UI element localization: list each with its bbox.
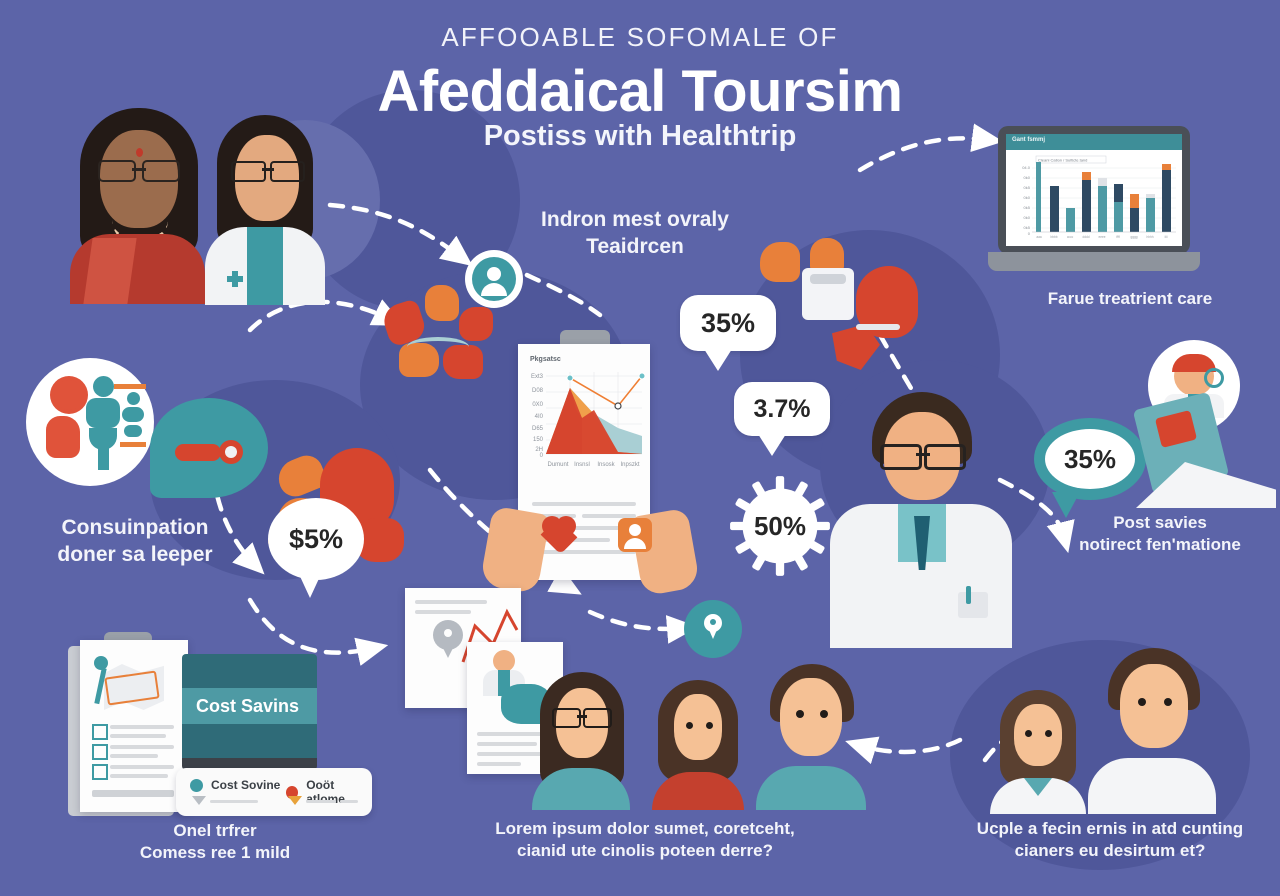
- elder-bindi: [136, 148, 143, 157]
- callout-50-value: 50%: [754, 511, 806, 542]
- callout-35-right[interactable]: 35%: [1034, 418, 1146, 500]
- glasses: [552, 708, 612, 724]
- checkbox-icon: [92, 764, 108, 780]
- first-aid-graphic: [1136, 400, 1276, 510]
- stethoscope-icon: [175, 438, 245, 466]
- center-note-line1: Indron mest ovraly: [470, 207, 800, 234]
- doctor-man-pocket: [958, 592, 988, 618]
- callout-35-right-value: 35%: [1064, 444, 1116, 475]
- svg-text:ffff: ffff: [1116, 235, 1119, 239]
- eye-right: [820, 710, 828, 718]
- eye-right: [706, 722, 713, 729]
- medical-research-chip[interactable]: [26, 358, 154, 486]
- person-man-teal: [756, 664, 866, 810]
- eye-left: [796, 710, 804, 718]
- legend-item: Cost Sovine: [190, 778, 280, 792]
- person-man-right: [1088, 648, 1216, 814]
- laptop-device[interactable]: Gant fsmmj Cleani Cation / Sulticte.tand…: [988, 126, 1200, 271]
- person-girl-right: [988, 690, 1088, 814]
- svg-text:4I0: 4I0: [535, 414, 544, 420]
- bottom-right-caption: Ucple a fecin ernis in atd cunting ciane…: [945, 818, 1275, 862]
- doctor-man-glasses: [880, 444, 966, 464]
- legend-caret-grey: [192, 796, 206, 805]
- laptop-screen: Gant fsmmj Cleani Cation / Sulticte.tand…: [1006, 134, 1182, 246]
- cost-panel-caption: Onel trfrer Comess ree 1 mild: [90, 820, 340, 864]
- legend-dot-savings: [190, 779, 203, 792]
- legend-underline: [340, 800, 358, 803]
- svg-text:0k0: 0k0: [1024, 195, 1031, 200]
- paper-rule: [532, 502, 636, 506]
- svg-text:D65: D65: [532, 426, 544, 432]
- doctor-man-pen: [966, 586, 971, 604]
- svg-text:Inpszkt: Inpszkt: [620, 462, 639, 468]
- callout-dollar-5-value: $5%: [289, 524, 343, 555]
- header-kicker: AFFOOABLE SOFOMALE OF: [0, 22, 1280, 53]
- paper-rule: [110, 774, 168, 778]
- paper-rule: [110, 725, 174, 729]
- svg-text:0k0: 0k0: [1024, 175, 1031, 180]
- pointer-line-2: [120, 442, 146, 447]
- svg-text:hhhh: hhhh: [1146, 235, 1153, 239]
- clipboard-area-chart: Ext3D08 0X04I0 D65150 2H0 DumuntInsnsl I…: [518, 366, 650, 476]
- center-note: Indron mest ovraly Teaidrcen: [470, 207, 800, 261]
- right-top-note-line1: Farue treatrient care: [985, 288, 1275, 310]
- legend-underline: [210, 800, 258, 803]
- eye-right: [1164, 698, 1172, 706]
- svg-text:aaa: aaa: [1036, 235, 1042, 239]
- callout-dollar-5[interactable]: $5%: [268, 498, 364, 580]
- laptop-bar-chart: Cleani Cation / Sulticte.tand 04.00k0 0k…: [1006, 150, 1182, 246]
- profile-badge-icon: [618, 518, 652, 552]
- bottom-right-line1: Ucple a fecin ernis in atd cunting: [945, 818, 1275, 840]
- svg-text:0: 0: [540, 453, 544, 459]
- svg-text:cccc: cccc: [1067, 235, 1074, 239]
- callout-50[interactable]: 50%: [728, 474, 832, 578]
- map-pin-icon: [704, 614, 722, 642]
- doctor-woman-glasses: [231, 161, 305, 178]
- right-mid-note-line1: Post savies: [1040, 512, 1280, 534]
- svg-text:Insosk: Insosk: [597, 462, 615, 468]
- svg-text:Cleani Cation / Sulticte.tand: Cleani Cation / Sulticte.tand: [1038, 158, 1087, 163]
- organ-hand-icon: [46, 416, 80, 458]
- cost-screen-label: Cost Savins: [182, 696, 299, 717]
- shirt: [652, 772, 744, 810]
- doctor-man: [830, 392, 1012, 648]
- center-note-line2: Teaidrcen: [470, 234, 800, 261]
- elder-saree-drape: [83, 238, 136, 304]
- doc-rule: [477, 762, 521, 766]
- callout-35-top-value: 35%: [701, 308, 755, 339]
- svg-text:bbbb: bbbb: [1050, 235, 1057, 239]
- cost-savings-panel[interactable]: Cost Savins Cost Sovine Ooöt atlome: [60, 632, 400, 820]
- face: [780, 678, 842, 756]
- person-woman-red: [648, 680, 748, 810]
- bottom-center-line1: Lorem ipsum dolor sumet, coretceht,: [450, 818, 840, 840]
- paper-rule: [110, 745, 174, 749]
- clipboard-chart-title: Pkgsatsc: [530, 356, 561, 363]
- doctor-woman: [205, 115, 325, 305]
- elder-glasses: [98, 160, 180, 178]
- svg-text:0k5: 0k5: [1024, 225, 1031, 230]
- heart-icon: [542, 516, 576, 548]
- svg-text:0k5: 0k5: [1024, 205, 1031, 210]
- figure-icon-large: [86, 376, 120, 468]
- person-woman-glasses: [528, 672, 634, 810]
- doctor-woman-scrubs: [247, 227, 283, 305]
- svg-text:eeee: eeee: [1098, 235, 1105, 239]
- svg-text:0X0: 0X0: [532, 402, 543, 408]
- shirt: [1088, 758, 1216, 814]
- legend-caret-orange: [288, 796, 302, 805]
- svg-text:dddd: dddd: [1082, 235, 1089, 239]
- paper-rule: [110, 754, 158, 758]
- callout-37-value: 3.7%: [754, 395, 811, 424]
- bottom-center-line2: cianid ute cinolis poteen derre?: [450, 840, 840, 862]
- cost-caption-line1: Onel trfrer: [90, 820, 340, 842]
- organ-cluster: [385, 285, 505, 395]
- pointer-line-1: [114, 384, 146, 389]
- eye-right: [1045, 730, 1052, 737]
- svg-text:Dumunt: Dumunt: [547, 462, 568, 468]
- surgical-cluster: [760, 238, 920, 398]
- infographic-canvas: AFFOOABLE SOFOMALE OF Afeddaical Toursim…: [0, 0, 1280, 896]
- eye-left: [686, 722, 693, 729]
- svg-text:D08: D08: [532, 388, 544, 394]
- paper-rule: [110, 734, 166, 738]
- right-mid-note: Post savies notirect fen'matione: [1040, 512, 1280, 556]
- laptop-chart-title: Gant fsmmj: [1012, 137, 1045, 143]
- svg-text:iiii: iiii: [1165, 235, 1168, 239]
- svg-text:0k0: 0k0: [1024, 215, 1031, 220]
- svg-text:150: 150: [533, 437, 544, 443]
- virus-icon: [54, 380, 84, 410]
- right-top-note: Farue treatrient care: [985, 288, 1275, 310]
- bottom-right-line2: cianers eu desirtum et?: [945, 840, 1275, 862]
- left-note: Consuinpation doner sa leeper: [10, 515, 260, 569]
- face: [674, 694, 722, 760]
- map-route-icon: [94, 654, 168, 716]
- face: [1120, 664, 1188, 748]
- svg-text:Ext3: Ext3: [531, 374, 544, 380]
- dashboard-header: Gant fsmmj: [1006, 134, 1182, 150]
- checkbox-icon: [92, 744, 108, 760]
- shirt: [756, 766, 866, 810]
- cost-legend-card: Cost Sovine Ooöt atlome: [176, 768, 372, 816]
- legend-label-savings: Cost Sovine: [211, 778, 280, 792]
- paper-rule: [110, 765, 174, 769]
- location-chip[interactable]: [684, 600, 742, 658]
- checkbox-icon: [92, 724, 108, 740]
- face: [1014, 704, 1062, 766]
- bottom-center-caption: Lorem ipsum dolor sumet, coretceht, cian…: [450, 818, 840, 862]
- svg-text:0k5: 0k5: [1024, 185, 1031, 190]
- paper-rule: [92, 790, 174, 797]
- svg-text:gggg: gggg: [1130, 235, 1137, 239]
- cost-caption-line2: Comess ree 1 mild: [90, 842, 340, 864]
- left-note-line1: Consuinpation: [10, 515, 260, 542]
- cost-monitor-band: Cost Savins: [182, 688, 317, 724]
- patient-elder-woman: [70, 108, 205, 303]
- legend-underline: [306, 800, 336, 803]
- eye-left: [1138, 698, 1146, 706]
- cost-clipboard-paper: [80, 640, 188, 812]
- medical-cross-icon: [227, 271, 243, 287]
- left-note-line2: doner sa leeper: [10, 542, 260, 569]
- eye-left: [1025, 730, 1032, 737]
- hand-left-icon: [479, 506, 550, 595]
- right-mid-note-line2: notirect fen'matione: [1040, 534, 1280, 556]
- svg-text:04.0: 04.0: [1022, 165, 1031, 170]
- laptop-keyboard-base: [988, 252, 1200, 271]
- svg-text:Insnsl: Insnsl: [574, 462, 590, 468]
